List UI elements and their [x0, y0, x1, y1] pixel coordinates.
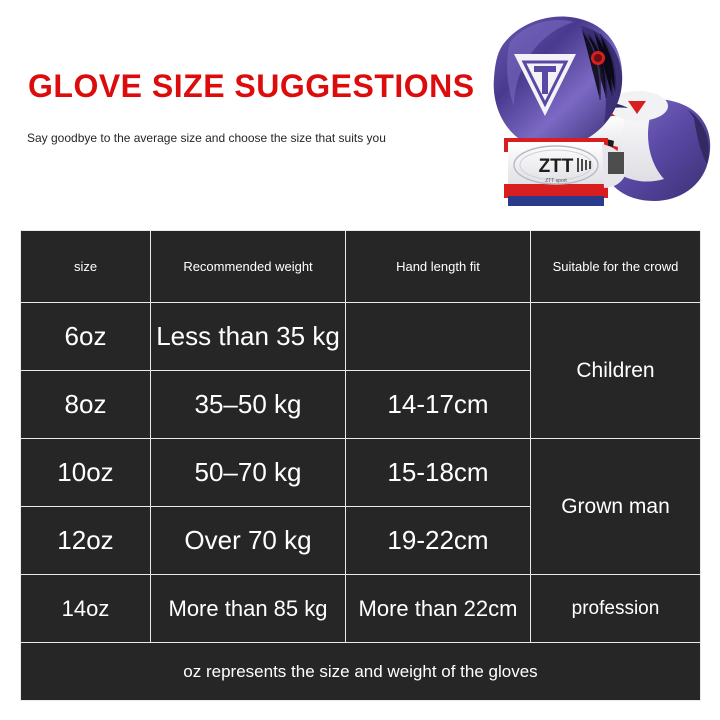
- cell-crowd: profession: [531, 575, 701, 643]
- cell-hand: 15-18cm: [346, 439, 531, 507]
- cell-size: 14oz: [21, 575, 151, 643]
- header-hand: Hand length fit: [346, 231, 531, 303]
- boxing-gloves-photo: ZTT ZTT sport: [462, 2, 720, 218]
- cell-weight: 35–50 kg: [151, 371, 346, 439]
- glove-size-table: size Recommended weight Hand length fit …: [20, 230, 701, 701]
- svg-text:ZTT: ZTT: [539, 156, 574, 177]
- cell-weight: 50–70 kg: [151, 439, 346, 507]
- page-subtitle: Say goodbye to the average size and choo…: [27, 131, 386, 145]
- table-row: 10oz 50–70 kg 15-18cm Grown man: [21, 439, 701, 507]
- header-size: size: [21, 231, 151, 303]
- table-footer-row: oz represents the size and weight of the…: [21, 643, 701, 701]
- svg-text:ZTT sport: ZTT sport: [545, 178, 567, 184]
- page-title: GLOVE SIZE SUGGESTIONS: [28, 70, 475, 102]
- cell-weight: Over 70 kg: [151, 507, 346, 575]
- header-weight: Recommended weight: [151, 231, 346, 303]
- cell-crowd: Grown man: [531, 439, 701, 575]
- table-row: 6oz Less than 35 kg Children: [21, 303, 701, 371]
- cell-hand: More than 22cm: [346, 575, 531, 643]
- glove-front: ZTT ZTT sport: [494, 16, 627, 206]
- table-row: 14oz More than 85 kg More than 22cm prof…: [21, 575, 701, 643]
- cell-hand: 14-17cm: [346, 371, 531, 439]
- table-header-row: size Recommended weight Hand length fit …: [21, 231, 701, 303]
- footer-note: oz represents the size and weight of the…: [21, 643, 701, 701]
- cell-size: 10oz: [21, 439, 151, 507]
- cell-size: 6oz: [21, 303, 151, 371]
- cell-weight: Less than 35 kg: [151, 303, 346, 371]
- cell-size: 8oz: [21, 371, 151, 439]
- glove-size-chart-page: GLOVE SIZE SUGGESTIONS Say goodbye to th…: [0, 0, 720, 720]
- header-crowd: Suitable for the crowd: [531, 231, 701, 303]
- cell-hand: [346, 303, 531, 371]
- cell-size: 12oz: [21, 507, 151, 575]
- cell-weight: More than 85 kg: [151, 575, 346, 643]
- cell-crowd: Children: [531, 303, 701, 439]
- cell-hand: 19-22cm: [346, 507, 531, 575]
